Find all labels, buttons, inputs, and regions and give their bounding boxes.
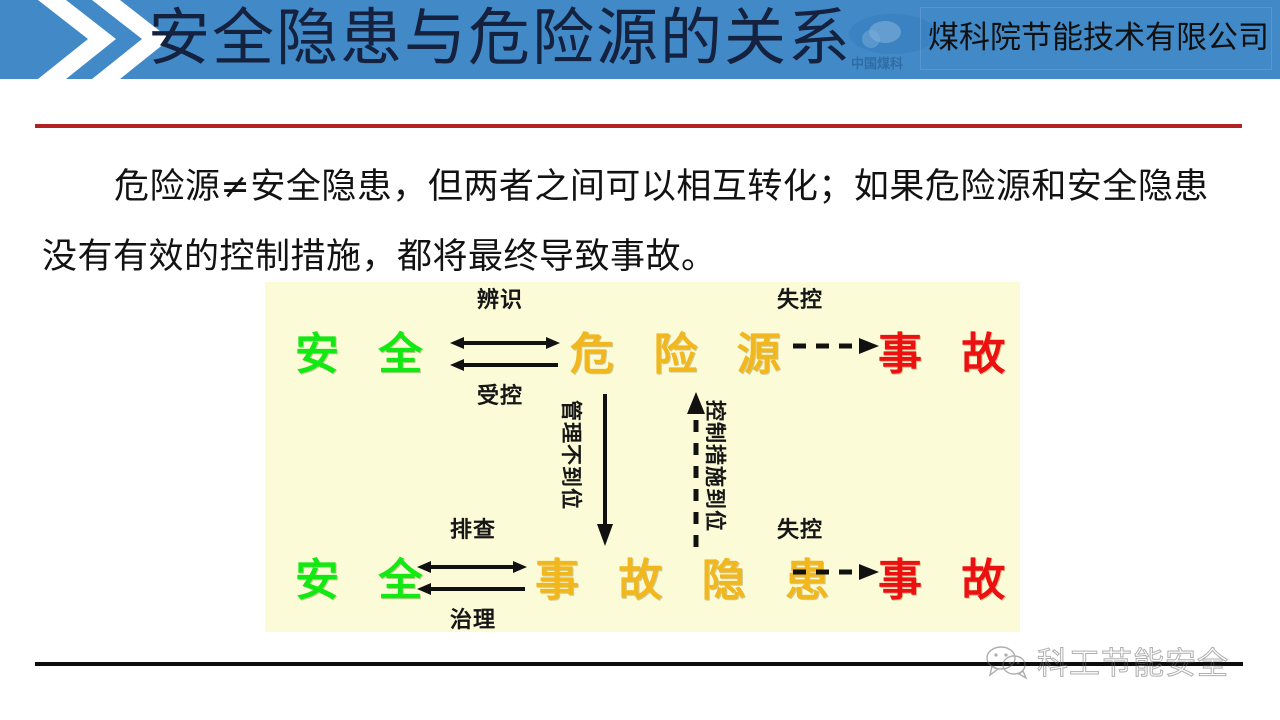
footer-watermark: 科工节能安全 — [985, 640, 1229, 688]
top-row-hazard-node: 危 险 源 — [570, 318, 793, 382]
bottom-row-safe-node: 安 全 — [295, 544, 434, 608]
bottom-row-outofcontrol-label: 失控 — [777, 512, 823, 544]
page-title: 安全隐患与危险源的关系 — [148, 0, 852, 79]
top-row-outofcontrol-label: 失控 — [777, 282, 823, 314]
top-row-safe-node: 安 全 — [295, 318, 434, 382]
relationship-diagram: 安 全 辨识 受控 危 险 源 失控 事 故 管理不到位 控制措施到位 安 全 … — [265, 282, 1020, 632]
wechat-bubble-icon — [985, 644, 1029, 684]
bottom-row-dashed-arrow — [793, 560, 879, 584]
top-divider — [35, 124, 1242, 128]
top-row-bidirectional-arrows — [450, 330, 560, 380]
top-row-accident-node: 事 故 — [878, 318, 1017, 382]
bottom-row-bidirectional-arrows — [417, 554, 527, 604]
company-name: 煤科院节能技术有限公司 — [928, 19, 1269, 57]
control-measures-in-place-label: 控制措施到位 — [701, 400, 731, 532]
top-row-identify-label: 辨识 — [477, 282, 523, 314]
top-row-controlled-label: 受控 — [477, 378, 523, 410]
bottom-row-accident-node: 事 故 — [878, 544, 1017, 608]
header-band: 中国煤科 安全隐患与危险源的关系 煤科院节能技术有限公司 — [0, 0, 1280, 79]
management-not-in-place-label: 管理不到位 — [557, 400, 587, 510]
bottom-row-investigate-label: 排查 — [450, 512, 496, 544]
footer-watermark-text: 科工节能安全 — [1037, 644, 1229, 684]
downward-solid-arrow — [592, 394, 618, 546]
china-coal-logo-text: 中国煤科 — [851, 53, 903, 72]
bottom-row-govern-label: 治理 — [450, 602, 496, 634]
body-paragraph: 危险源≠安全隐患，但两者之间可以相互转化；如果危险源和安全隐患没有有效的控制措施… — [42, 152, 1242, 292]
top-row-dashed-arrow — [793, 334, 879, 358]
